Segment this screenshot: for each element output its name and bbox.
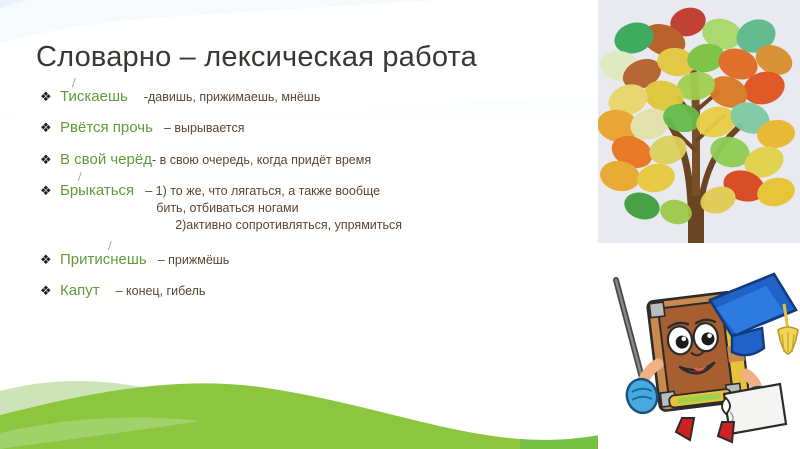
stress-mark-icon: / [109, 240, 111, 252]
vocabulary-definition: -давишь, прижимаешь, мнёшь [144, 90, 321, 105]
diamond-bullet-icon: ❖ [40, 152, 52, 168]
vocabulary-term: В свой черёд [60, 151, 152, 169]
list-item: ❖ / Тискаешь -давишь, прижимаешь, мнёшь [40, 88, 560, 106]
list-item: ❖ Капут – конец, гибель [40, 282, 560, 300]
definition-line: бить, отбиваться ногами [145, 200, 402, 217]
vocabulary-definition: – вырывается [164, 121, 245, 136]
page-title: Словарно – лексическая работа [36, 41, 477, 74]
vocabulary-term: / Брыкаться [60, 182, 134, 200]
stress-mark-icon: / [73, 77, 75, 89]
vocabulary-term-text: Капут [60, 282, 100, 299]
cartoon-book-image [598, 252, 800, 449]
slide-root: Словарно – лексическая работа ❖ / Тискае… [0, 0, 800, 449]
diamond-bullet-icon: ❖ [40, 120, 52, 136]
diamond-bullet-icon: ❖ [40, 283, 52, 299]
vocabulary-term-text: В свой черёд [60, 151, 152, 168]
definition-line: 2)активно сопротивляться, упрямиться [145, 217, 402, 234]
vocabulary-term-text: Тискаешь [60, 88, 128, 105]
list-item: ❖ В свой черёд - в свою очередь, когда п… [40, 151, 560, 169]
vocabulary-term: Капут [60, 282, 100, 300]
definition-line: – 1) то же, что лягаться, а также вообще [145, 183, 402, 200]
vocabulary-definition: – прижмёшь [158, 253, 230, 268]
vocabulary-term: / Притиснешь [60, 251, 147, 269]
list-item: ❖ Рвётся прочь – вырывается [40, 119, 560, 137]
vocabulary-definition: - в свою очередь, когда придёт время [152, 153, 371, 168]
vocabulary-list: ❖ / Тискаешь -давишь, прижимаешь, мнёшь … [40, 88, 560, 313]
vocabulary-term: / Тискаешь [60, 88, 128, 106]
list-item: ❖ / Брыкаться – 1) то же, что лягаться, … [40, 182, 560, 234]
vocabulary-term-text: Брыкаться [60, 182, 134, 199]
diamond-bullet-icon: ❖ [40, 252, 52, 268]
autumn-tree-image [598, 0, 800, 243]
vocabulary-term-text: Притиснешь [60, 251, 147, 268]
vocabulary-definition: – конец, гибель [116, 284, 206, 299]
vocabulary-definition-block: – 1) то же, что лягаться, а также вообще… [145, 183, 402, 234]
diamond-bullet-icon: ❖ [40, 89, 52, 105]
diamond-bullet-icon: ❖ [40, 183, 52, 199]
list-item: ❖ / Притиснешь – прижмёшь [40, 251, 560, 269]
vocabulary-term-text: Рвётся прочь [60, 119, 153, 136]
stress-mark-icon: / [79, 171, 81, 183]
vocabulary-term: Рвётся прочь [60, 119, 153, 137]
